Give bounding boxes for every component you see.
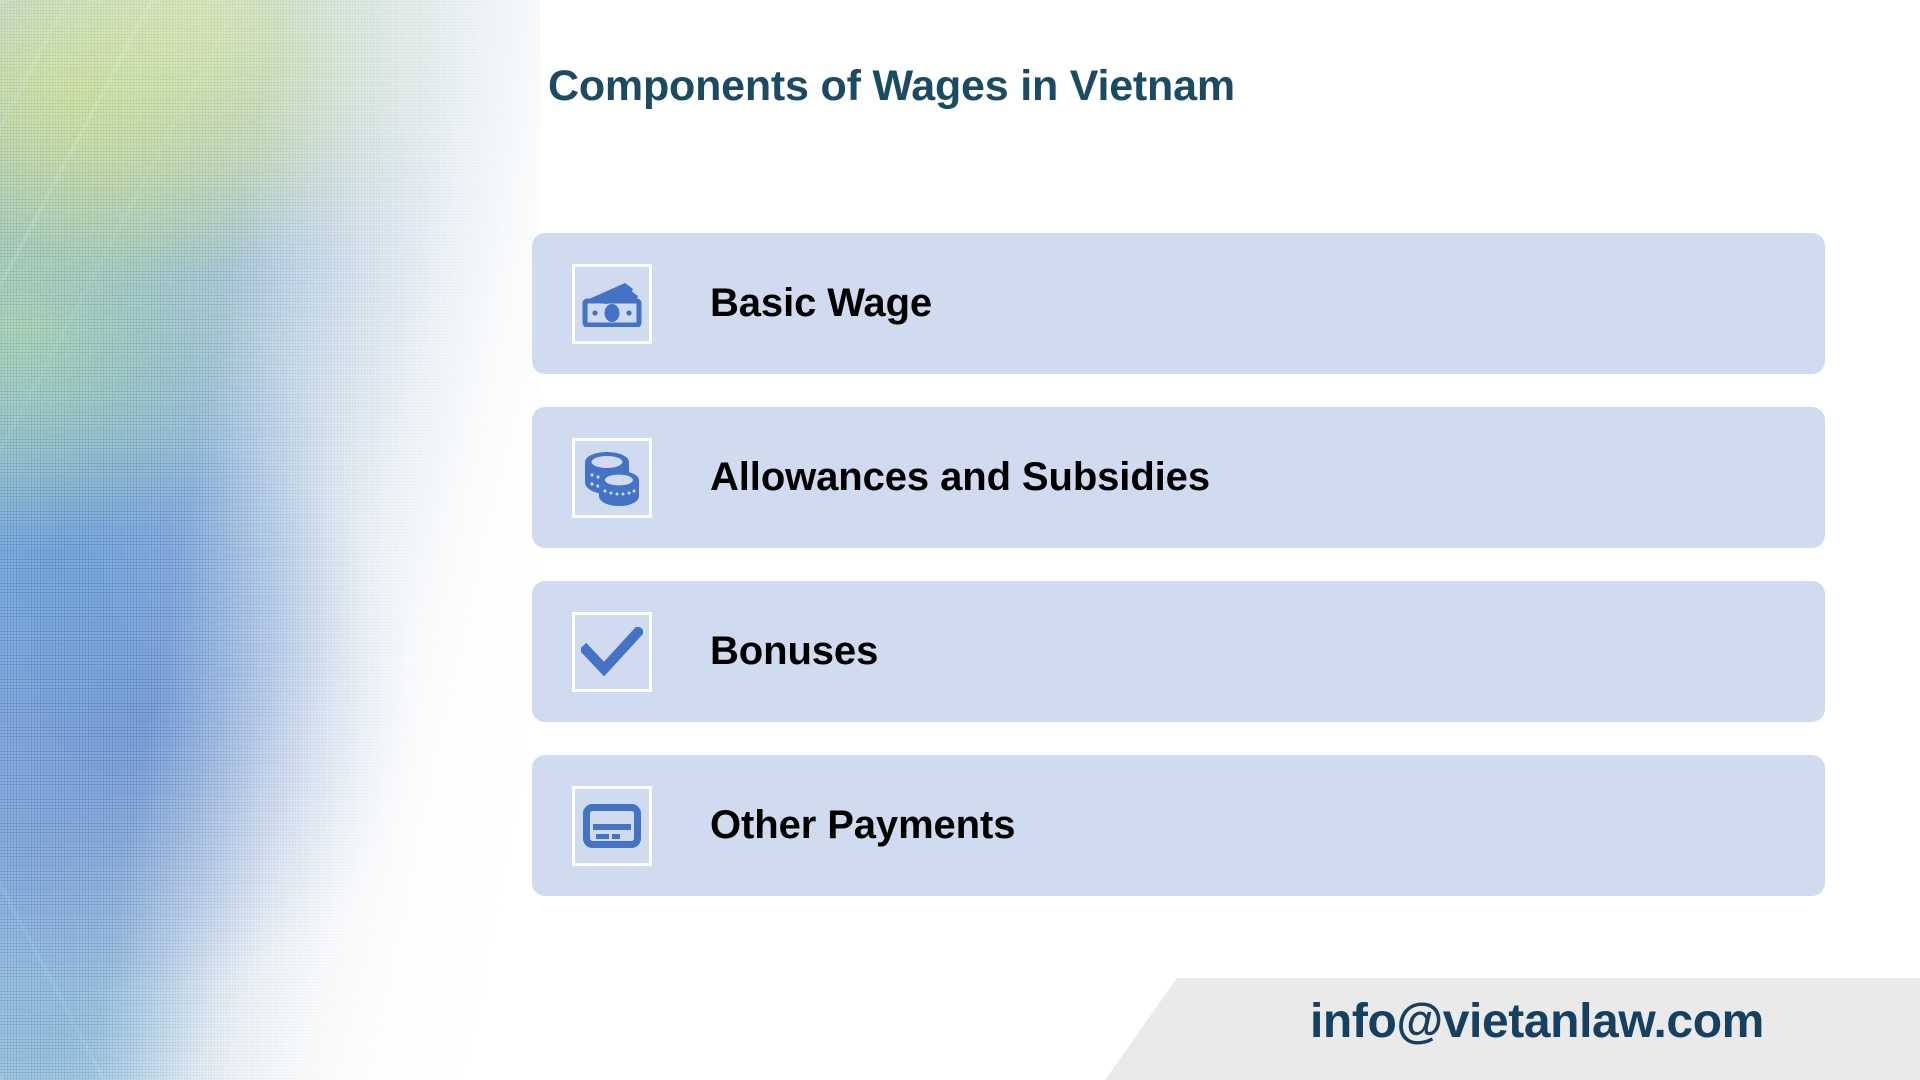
components-list: Basic Wage [532, 233, 1825, 896]
artwork-top-fade [0, 0, 540, 1080]
list-item[interactable]: Basic Wage [532, 233, 1825, 374]
checkmark-icon [572, 612, 652, 692]
slide-canvas: Components of Wages in Vietnam Basic Wag… [0, 0, 1920, 1080]
footer-email[interactable]: info@vietanlaw.com [1310, 994, 1764, 1049]
page-title: Components of Wages in Vietnam [548, 62, 1235, 111]
list-item[interactable]: Allowances and Subsidies [532, 407, 1825, 548]
credit-card-icon [572, 786, 652, 866]
list-item-label: Bonuses [710, 629, 878, 674]
list-item-label: Allowances and Subsidies [710, 455, 1210, 500]
coins-icon [572, 438, 652, 518]
list-item-label: Basic Wage [710, 281, 932, 326]
list-item[interactable]: Bonuses [532, 581, 1825, 722]
list-item-label: Other Payments [710, 803, 1015, 848]
list-item[interactable]: Other Payments [532, 755, 1825, 896]
banknote-texture-artwork [0, 0, 540, 1080]
banknotes-icon [572, 264, 652, 344]
